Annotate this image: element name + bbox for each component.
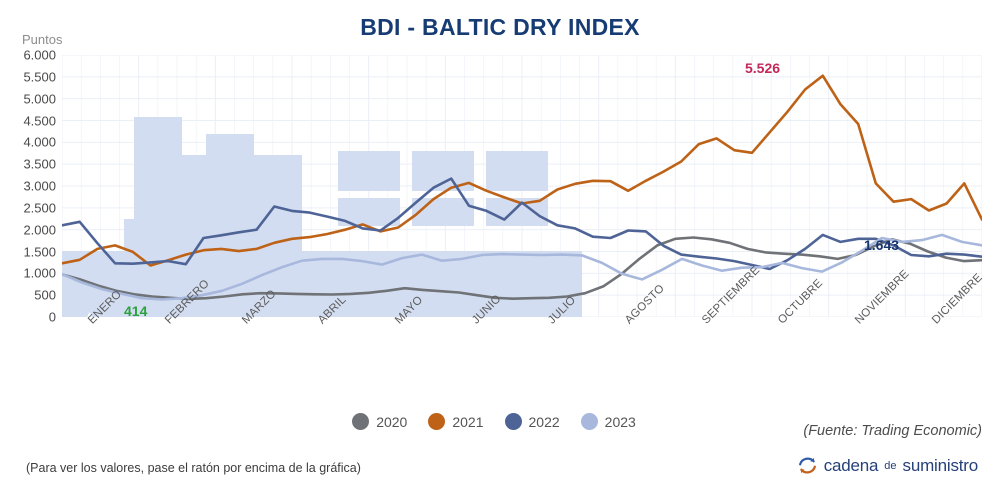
legend-swatch-icon — [581, 413, 598, 430]
legend-item-2020[interactable]: 2020 — [352, 413, 407, 430]
legend-item-2023[interactable]: 2023 — [581, 413, 636, 430]
annotation-last-value: 1.643 — [864, 237, 899, 253]
y-tick-label: 1.500 — [23, 244, 56, 259]
decor-block — [412, 198, 474, 226]
y-axis-unit-label: Puntos — [22, 32, 62, 47]
page-title: BDI - BALTIC DRY INDEX — [0, 14, 1000, 41]
background-blocks — [62, 117, 582, 317]
legend-swatch-icon — [505, 413, 522, 430]
chart-page: { "title": "BDI - BALTIC DRY INDEX", "y_… — [0, 0, 1000, 500]
y-tick-label: 5.000 — [23, 91, 56, 106]
chart-svg[interactable] — [62, 55, 982, 317]
decor-block — [338, 151, 400, 191]
y-tick-label: 0 — [49, 310, 56, 325]
chart-plot-area[interactable] — [62, 55, 982, 317]
decor-block — [182, 197, 206, 219]
legend-swatch-icon — [428, 413, 445, 430]
footer-hint-text: (Para ver los valores, pase el ratón por… — [26, 461, 361, 475]
y-tick-label: 4.500 — [23, 113, 56, 128]
brand-connector: de — [884, 460, 896, 472]
y-tick-label: 500 — [34, 288, 56, 303]
y-axis-ticks: 6.0005.5005.0004.5004.0003.5003.0002.500… — [0, 55, 56, 317]
brand-logo[interactable]: cadena de suministro — [797, 455, 978, 476]
decor-block — [206, 134, 254, 219]
legend-swatch-icon — [352, 413, 369, 430]
annotation-peak-value: 5.526 — [745, 60, 780, 76]
y-tick-label: 4.000 — [23, 135, 56, 150]
source-note: (Fuente: Trading Economic) — [803, 423, 982, 439]
annotation-min-value: 414 — [124, 303, 147, 319]
decor-block — [486, 151, 548, 191]
y-tick-label: 1.000 — [23, 266, 56, 281]
legend-label: 2021 — [452, 414, 483, 430]
decor-block — [254, 155, 302, 219]
legend-label: 2020 — [376, 414, 407, 430]
y-tick-label: 2.500 — [23, 200, 56, 215]
brand-name-2: suministro — [903, 456, 978, 476]
decor-block — [124, 219, 302, 251]
legend-item-2021[interactable]: 2021 — [428, 413, 483, 430]
y-tick-label: 2.000 — [23, 222, 56, 237]
legend-label: 2022 — [529, 414, 560, 430]
y-tick-label: 3.000 — [23, 179, 56, 194]
y-tick-label: 5.500 — [23, 69, 56, 84]
y-tick-label: 3.500 — [23, 157, 56, 172]
x-axis-ticks: ENEROFEBREROMARZOABRILMAYOJUNIOJULIOAGOS… — [62, 318, 982, 388]
legend-label: 2023 — [605, 414, 636, 430]
brand-name-1: cadena — [824, 456, 879, 476]
decor-block — [134, 117, 182, 219]
legend-item-2022[interactable]: 2022 — [505, 413, 560, 430]
refresh-circle-icon — [797, 455, 818, 476]
y-tick-label: 6.000 — [23, 48, 56, 63]
